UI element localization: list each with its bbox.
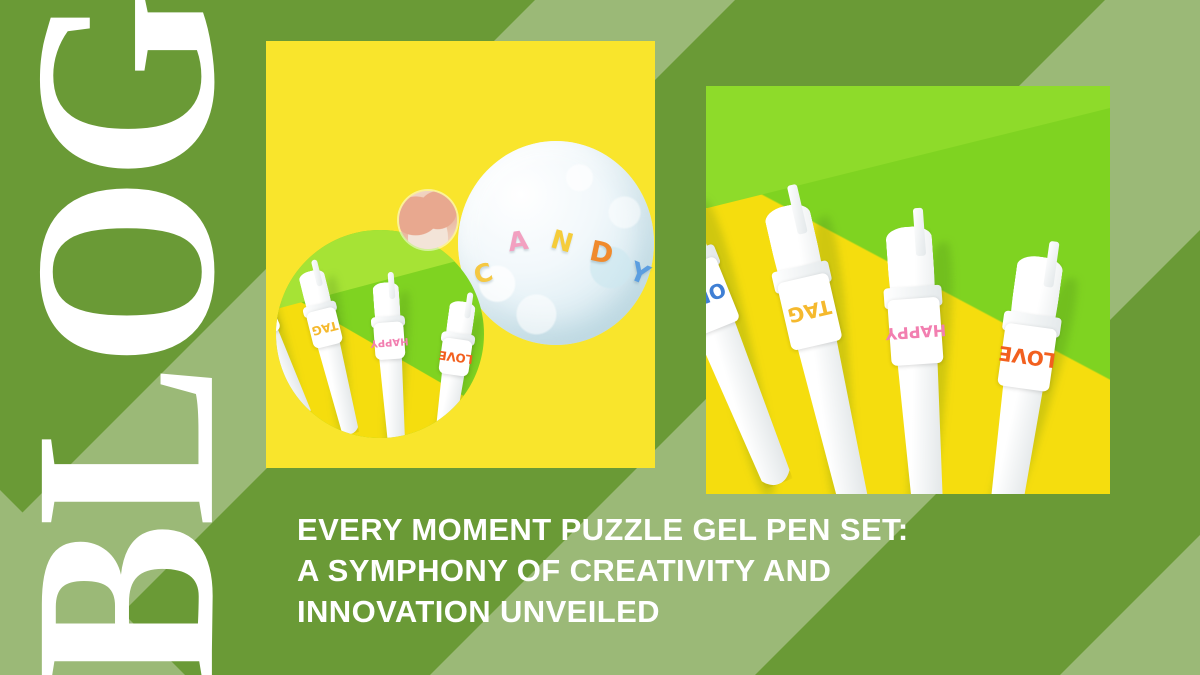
pen-label-text: ONE (706, 279, 729, 315)
pen-label-text: HAPPY (370, 335, 409, 348)
pen-happy: HAPPY (372, 282, 410, 438)
title-line-1: EVERY MOMENT PUZZLE GEL PEN SET: (297, 509, 1097, 550)
pen-happy: HAPPY (885, 225, 952, 494)
pen-label-text: TAG (786, 297, 833, 326)
candy-letter-y: Y (625, 257, 654, 292)
pen-letter-label: HAPPY (374, 322, 406, 361)
candy-letter-n: N (547, 225, 576, 260)
title-line-3: INNOVATION UNVEILED (297, 591, 1097, 632)
page-title: EVERY MOMENT PUZZLE GEL PEN SET: A SYMPH… (297, 509, 1097, 633)
pen-closeup-inset: ONETAGHAPPYLOVE (276, 230, 484, 438)
candy-letter-a: A (506, 226, 530, 259)
hand-image (399, 191, 457, 249)
hand-holding-pen-inset (399, 191, 457, 249)
candy-letters-group: CANDY (458, 141, 654, 345)
pen-label-text: TAG (310, 319, 339, 337)
pen-letter-label: LOVE (439, 338, 473, 377)
inset-pen-group: ONETAGHAPPYLOVE (276, 230, 484, 438)
pen-label-text: LOVE (438, 349, 474, 366)
pen-love: LOVE (978, 254, 1064, 494)
candy-letter-d: D (587, 234, 617, 271)
pen-letter-label: HAPPY (887, 297, 943, 366)
pen-letter-label: LOVE (997, 322, 1057, 392)
candy-photo-panel: CANDY ONETAGHAPPYLOVE (266, 41, 655, 468)
pen-set-photo-panel: ONETAGHAPPYLOVE (706, 86, 1110, 494)
pen-love: LOVE (428, 300, 476, 438)
pen-clip (388, 272, 396, 299)
pen-label-text: LOVE (997, 343, 1057, 371)
pen-group: ONETAGHAPPYLOVE (706, 86, 1110, 494)
title-line-2: A SYMPHONY OF CREATIVITY AND (297, 550, 1097, 591)
pen-label-text: HAPPY (885, 321, 947, 341)
